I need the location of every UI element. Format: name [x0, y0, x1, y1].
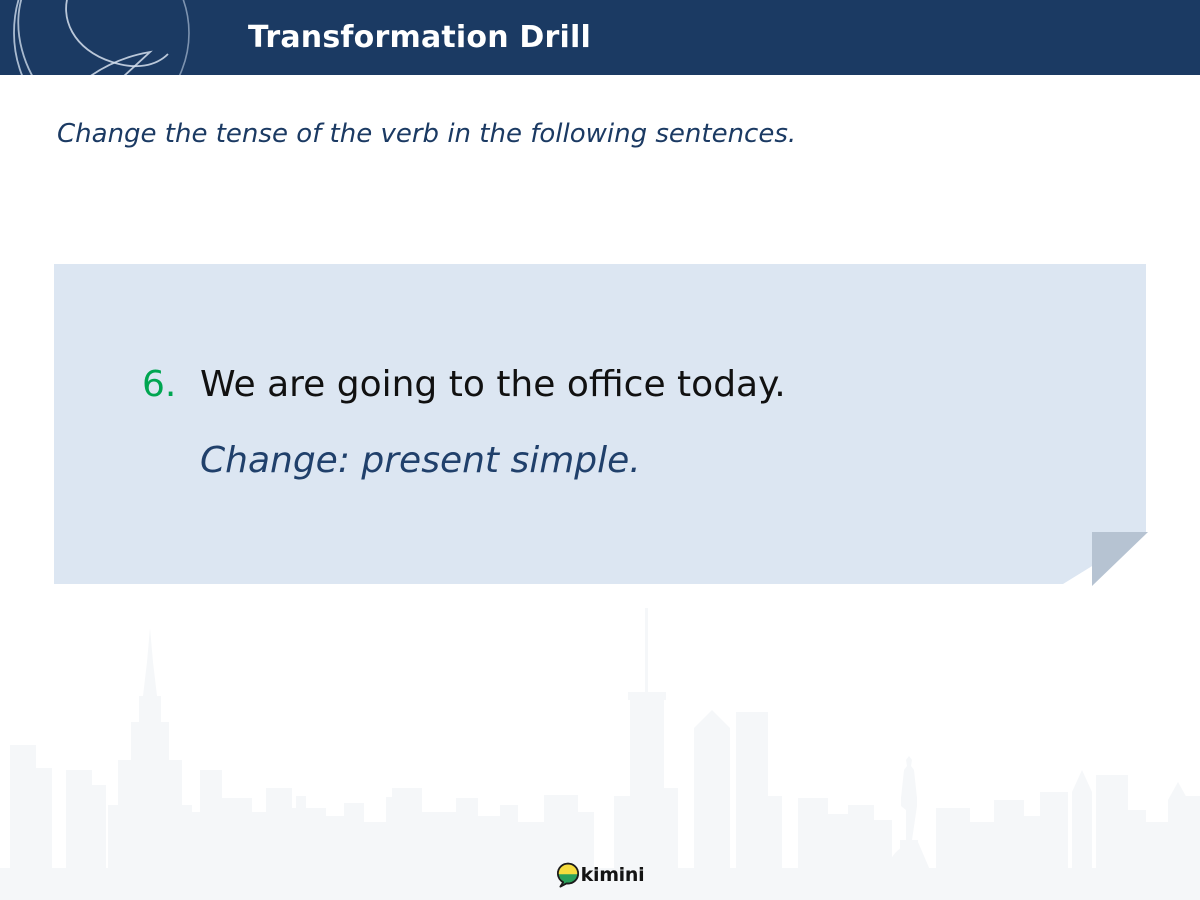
brand-wordmark: kimini: [581, 866, 645, 885]
kimini-balloon-icon: [556, 862, 580, 888]
kimini-swirl-outline-icon: [0, 0, 194, 75]
question-body: We are going to the office today. Change…: [200, 364, 786, 483]
question-number: 6.: [142, 364, 200, 406]
page-header: Transformation Drill: [0, 0, 1200, 75]
change-instruction: Change: present simple.: [200, 440, 786, 482]
city-skyline-silhouette-icon: [0, 600, 1200, 900]
page-title: Transformation Drill: [248, 0, 591, 75]
instruction-text: Change the tense of the verb in the foll…: [57, 119, 796, 149]
footer-brand: kimini: [0, 858, 1200, 892]
question-sentence: We are going to the office today.: [200, 364, 786, 406]
question-row: 6. We are going to the office today. Cha…: [142, 364, 786, 483]
question-card: 6. We are going to the office today. Cha…: [54, 264, 1146, 584]
